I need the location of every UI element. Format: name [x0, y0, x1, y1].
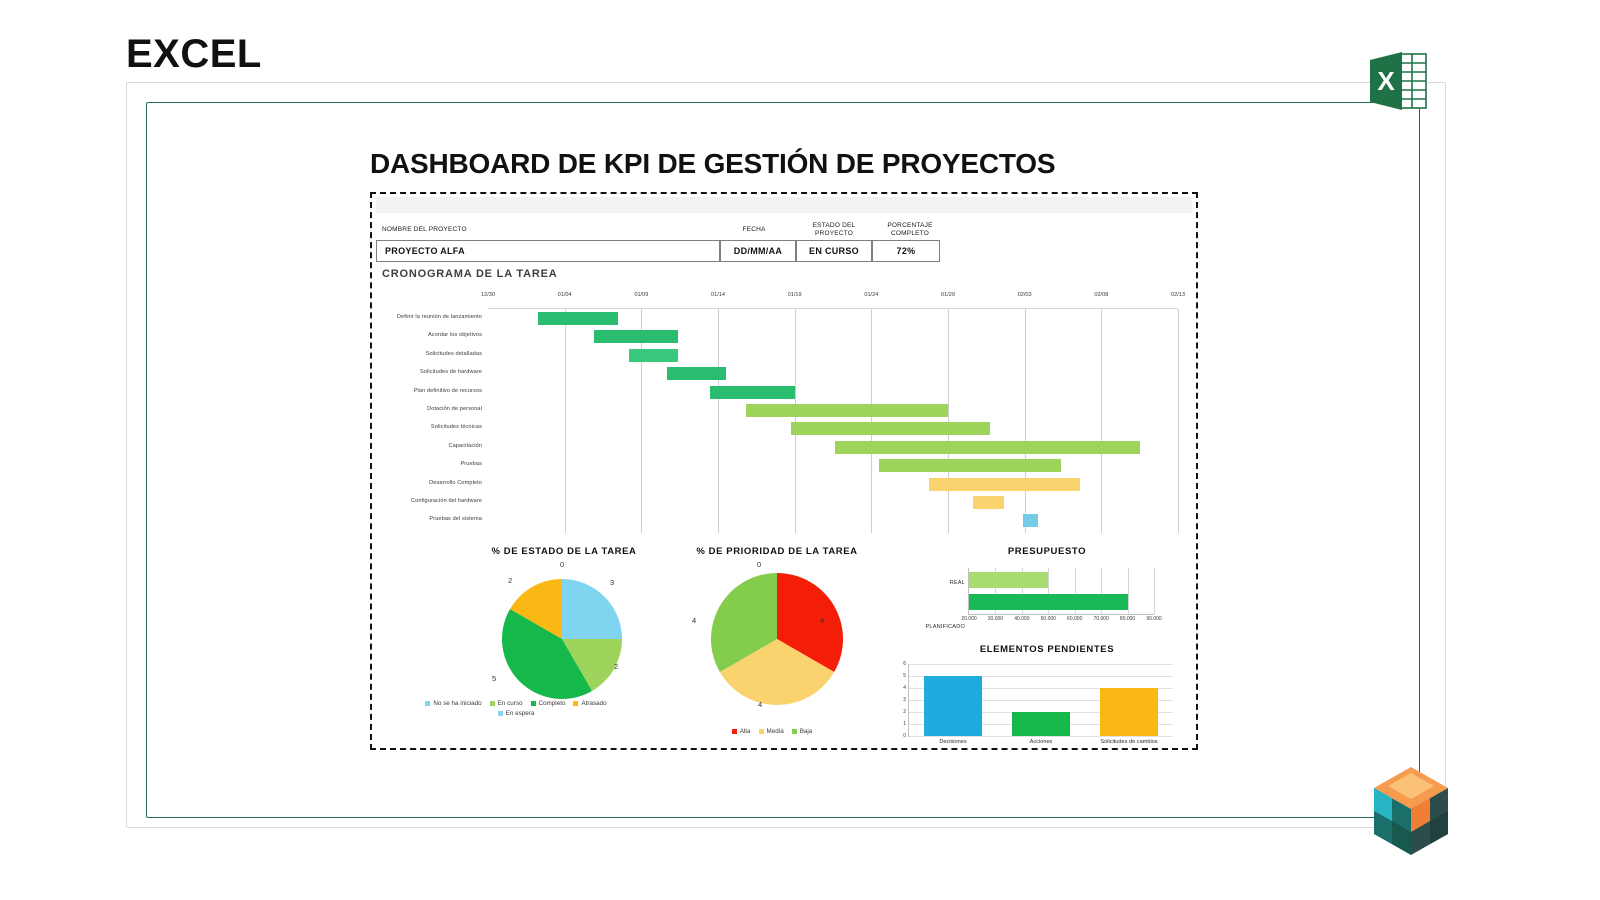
legend-swatch [792, 729, 797, 734]
gantt-bar [594, 330, 678, 343]
legend-swatch [732, 729, 737, 734]
pending-category-label: Acciones [1030, 739, 1053, 745]
pending-gridline [909, 664, 1173, 665]
excel-logo-icon: X [1368, 50, 1428, 112]
budget-bar: PLANIFICADO [969, 594, 1128, 610]
budget-axis-tick: 30.000 [988, 616, 1003, 622]
budget-axis-tick: 50.000 [1041, 616, 1056, 622]
budget-gridline [1154, 568, 1155, 614]
gantt-axis-tick: 01/04 [558, 292, 572, 298]
gantt-task-label: Solicitudes de hardware [374, 368, 482, 376]
budget-axis-tick: 80.000 [1120, 616, 1135, 622]
gantt-axis-tick: 01/24 [864, 292, 878, 298]
pie-status-label-4: 2 [614, 662, 618, 671]
task-status-pie-chart: 0 3 2 5 2 [442, 566, 682, 716]
gantt-axis-tick: 02/03 [1018, 292, 1032, 298]
gantt-chart: Definir la reunión de lanzamientoAcordar… [376, 292, 1196, 532]
pending-y-tick: 3 [903, 697, 906, 703]
gantt-task-label: Pruebas del sistema [374, 515, 482, 523]
legend-item: En curso [490, 700, 523, 707]
legend-label: Alta [740, 728, 751, 735]
pending-category-label: Solicitudes de cambios [1100, 739, 1157, 745]
gantt-axis-tick: 12/30 [481, 292, 495, 298]
screenshot-root: EXCEL X [0, 0, 1600, 900]
gantt-gridline [1025, 309, 1026, 533]
gantt-bar [629, 349, 678, 362]
gantt-task-label: Capacitación [374, 442, 482, 450]
budget-axis-tick: 90.000 [1146, 616, 1161, 622]
gantt-bar [835, 441, 1140, 454]
pending-y-tick: 5 [903, 673, 906, 679]
gantt-bar [746, 404, 948, 417]
gantt-gridline [871, 309, 872, 533]
legend-label: Completo [539, 700, 566, 707]
budget-axis-tick: 70.000 [1093, 616, 1108, 622]
gantt-gridline [1101, 309, 1102, 533]
legend-item: Completo [531, 700, 566, 707]
gantt-task-labels: Definir la reunión de lanzamientoAcordar… [376, 308, 486, 532]
legend-label: Baja [800, 728, 813, 735]
pending-y-tick: 2 [903, 709, 906, 715]
gantt-axis-tick: 01/19 [788, 292, 802, 298]
pie-priority-label-3: 4 [692, 616, 696, 625]
legend-label: En espera [506, 710, 535, 717]
pie-status-label-3: 5 [492, 674, 496, 683]
task-priority-legend: AltaMediaBaja [672, 728, 872, 735]
pending-y-tick: 0 [903, 733, 906, 739]
header-band [376, 197, 1192, 213]
gantt-axis-tick: 02/08 [1094, 292, 1108, 298]
gantt-axis-tick: 01/09 [634, 292, 648, 298]
legend-label: Media [767, 728, 784, 735]
gantt-task-label: Pruebas [374, 460, 482, 468]
gantt-gridline [948, 309, 949, 533]
value-project-status: EN CURSO [796, 240, 872, 262]
pending-category-label: Decisiones [939, 739, 966, 745]
gantt-axis-tick: 01/14 [711, 292, 725, 298]
legend-label: Atrasado [581, 700, 606, 707]
pending-y-tick: 4 [903, 685, 906, 691]
gantt-task-label: Dotación de personal [374, 405, 482, 413]
label-percent-complete: PORCENTAJE COMPLETO [876, 222, 944, 238]
gantt-task-label: Plan definitivo de recursos [374, 387, 482, 395]
gantt-gridline [795, 309, 796, 533]
brand-title: EXCEL [126, 32, 262, 77]
gantt-bar [929, 478, 1080, 491]
legend-item: Baja [792, 728, 813, 735]
gantt-task-label: Definir la reunión de lanzamiento [374, 313, 482, 321]
budget-axis-tick: 20.000 [961, 616, 976, 622]
task-priority-pie-chart: 0 4 4 4 [672, 566, 882, 716]
budget-axis-tick: 60.000 [1067, 616, 1082, 622]
pie-slice [562, 579, 622, 639]
gantt-bar [667, 367, 725, 380]
pending-y-tick: 1 [903, 721, 906, 727]
pie-priority-label-2: 4 [758, 700, 762, 709]
task-priority-pie-svg [672, 566, 882, 716]
dashboard-capture-area: NOMBRE DEL PROYECTO FECHA ESTADO DEL PRO… [370, 192, 1198, 750]
gantt-bar [1023, 514, 1038, 527]
budget-gridline [1128, 568, 1129, 614]
value-date: DD/MM/AA [720, 240, 796, 262]
gantt-bar [538, 312, 619, 325]
pending-plot-area: 0123456DecisionesAccionesSolicitudes de … [908, 664, 1173, 737]
pie-status-label-1: 3 [610, 578, 614, 587]
pending-y-tick: 6 [903, 661, 906, 667]
gantt-bar [710, 386, 794, 399]
project-header-values: PROYECTO ALFA DD/MM/AA EN CURSO 72% [376, 240, 936, 262]
budget-bar: REAL [969, 572, 1048, 588]
page-title: DASHBOARD DE KPI DE GESTIÓN DE PROYECTOS [370, 148, 1055, 180]
budget-category-label: PLANIFICADO [926, 624, 966, 630]
legend-label: En curso [498, 700, 523, 707]
budget-chart-title: PRESUPUESTO [902, 546, 1192, 557]
legend-label: No se ha iniciado [433, 700, 481, 707]
legend-swatch [490, 701, 495, 706]
gantt-task-label: Desarrollo Completo [374, 479, 482, 487]
gantt-gridline [1178, 309, 1179, 533]
budget-plot-area: 20.00030.00040.00050.00060.00070.00080.0… [968, 568, 1154, 615]
excel-logo-letter: X [1377, 66, 1395, 96]
legend-item: No se ha iniciado [425, 700, 481, 707]
gantt-axis-tick: 01/29 [941, 292, 955, 298]
legend-item: Alta [732, 728, 751, 735]
legend-swatch [498, 711, 503, 716]
task-status-legend: No se ha iniciadoEn cursoCompletoAtrasad… [408, 700, 624, 717]
gantt-gridline [565, 309, 566, 533]
legend-swatch [573, 701, 578, 706]
label-project-status: ESTADO DEL PROYECTO [800, 222, 868, 238]
task-priority-chart-title: % DE PRIORIDAD DE LA TAREA [632, 546, 922, 557]
gantt-task-label: Configuración del hardware [374, 497, 482, 505]
pending-bar [924, 676, 982, 736]
gantt-task-label: Solicitudes técnicas [374, 423, 482, 431]
gantt-task-label: Acordar los objetivos [374, 331, 482, 339]
pending-bar [1012, 712, 1070, 736]
gantt-bar [791, 422, 990, 435]
legend-item: Media [759, 728, 784, 735]
gantt-section-title: CRONOGRAMA DE LA TAREA [382, 268, 557, 280]
pending-items-bar-chart: 0123456DecisionesAccionesSolicitudes de … [890, 664, 1190, 760]
cube-logo-icon [1368, 765, 1454, 861]
budget-bar-chart: 20.00030.00040.00050.00060.00070.00080.0… [920, 568, 1180, 632]
gantt-plot-area [488, 308, 1178, 533]
gantt-gridline [718, 309, 719, 533]
pending-items-chart-title: ELEMENTOS PENDIENTES [902, 644, 1192, 655]
legend-item: Atrasado [573, 700, 606, 707]
legend-swatch [531, 701, 536, 706]
pie-priority-label-1: 4 [820, 616, 824, 625]
task-status-pie-svg [442, 566, 682, 716]
legend-item: En espera [498, 710, 535, 717]
gantt-axis-tick: 02/13 [1171, 292, 1185, 298]
gantt-task-label: Solicitudes detalladas [374, 350, 482, 358]
label-date: FECHA [724, 226, 784, 234]
pie-priority-label-0: 0 [757, 560, 761, 569]
budget-axis-tick: 40.000 [1014, 616, 1029, 622]
pie-status-label-0: 0 [560, 560, 564, 569]
legend-swatch [425, 701, 430, 706]
pie-status-label-2: 2 [508, 576, 512, 585]
label-project-name: NOMBRE DEL PROYECTO [382, 226, 467, 234]
legend-swatch [759, 729, 764, 734]
pending-bar [1100, 688, 1158, 736]
value-percent-complete: 72% [872, 240, 940, 262]
gantt-bar [879, 459, 1061, 472]
pending-gridline [909, 736, 1173, 737]
value-project-name: PROYECTO ALFA [376, 240, 720, 262]
budget-category-label: REAL [950, 580, 965, 586]
project-header-labels: NOMBRE DEL PROYECTO FECHA ESTADO DEL PRO… [376, 220, 936, 240]
gantt-bar [973, 496, 1004, 509]
